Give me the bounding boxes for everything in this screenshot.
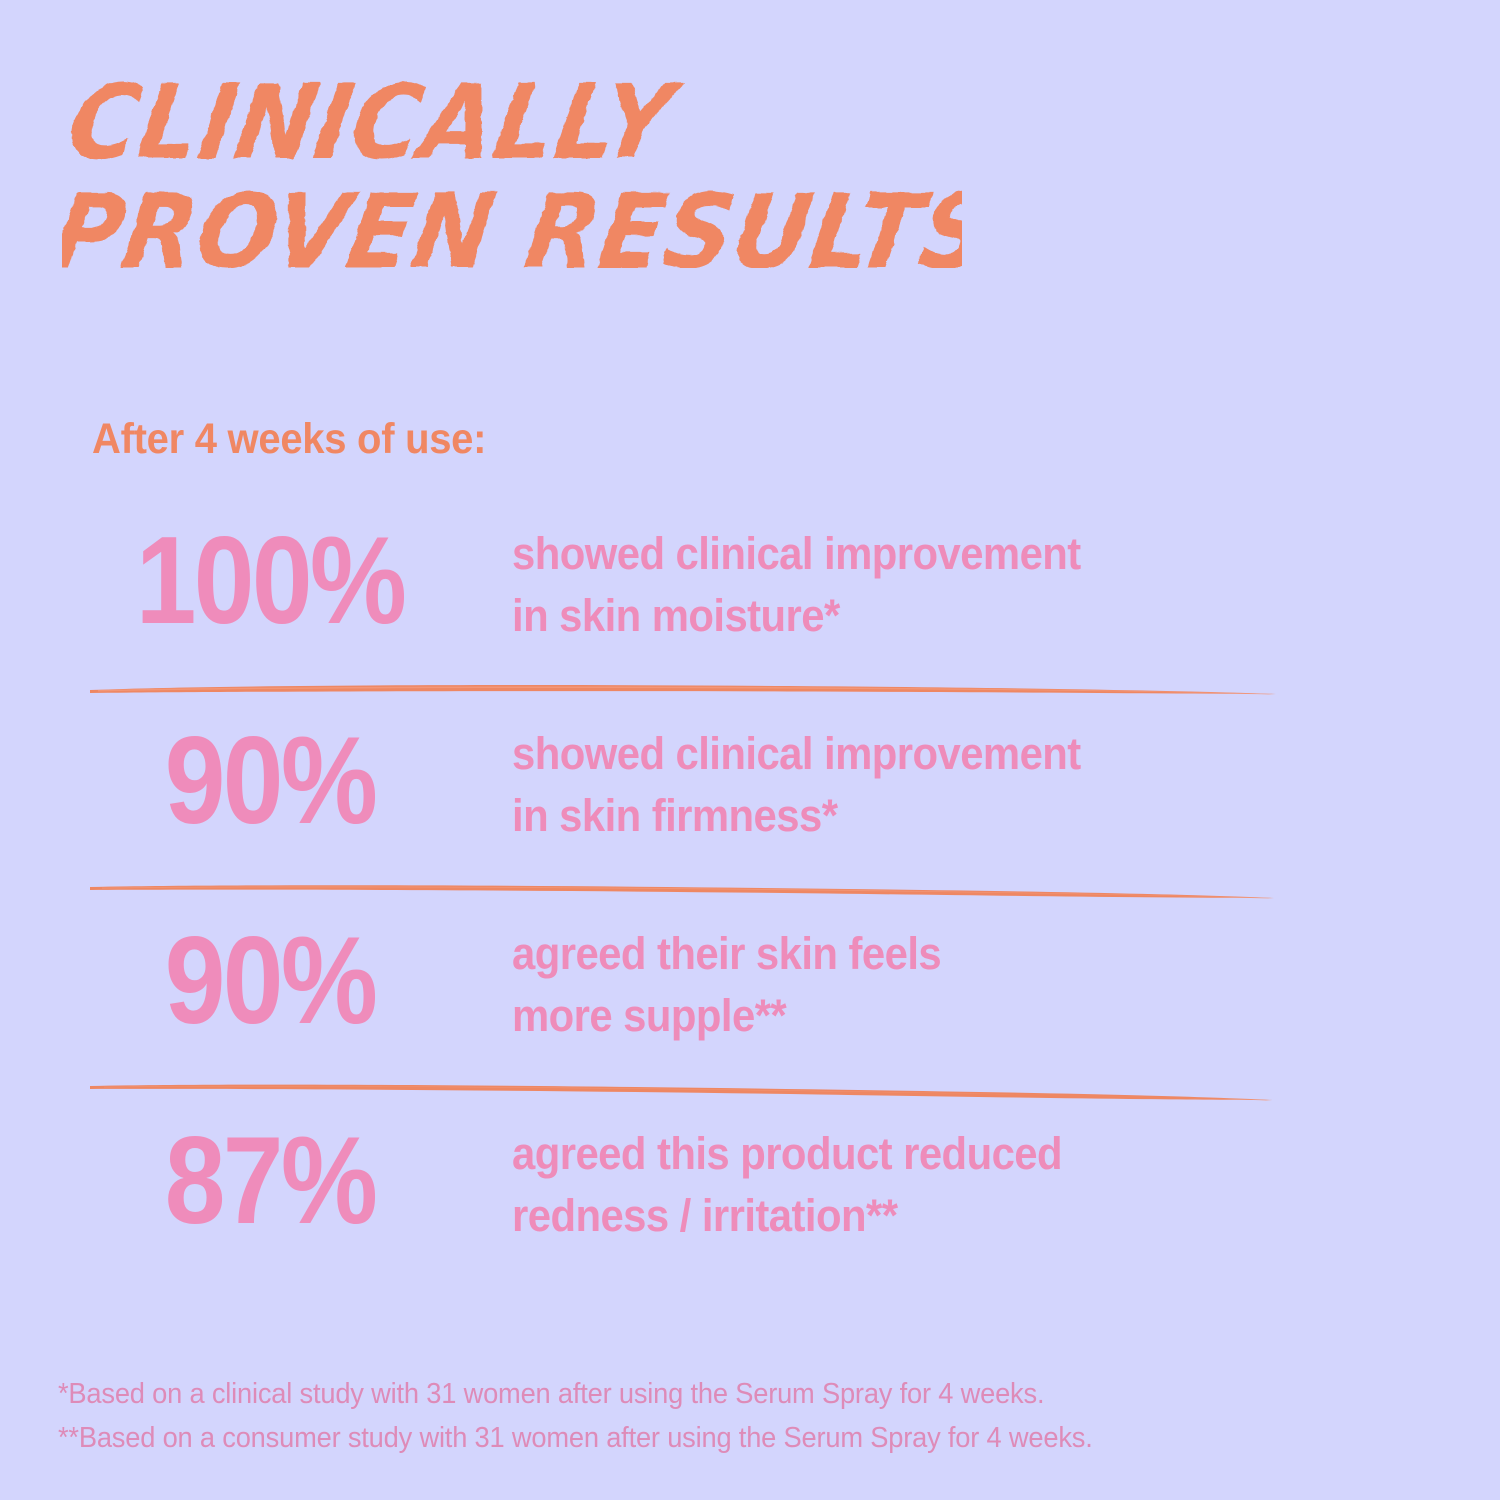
footnote-single-asterisk: *Based on a clinical study with 31 women… [58, 1372, 1280, 1416]
stat-percent: 87% [120, 1119, 419, 1243]
stat-percent: 100% [120, 519, 419, 643]
stat-percent: 90% [120, 919, 419, 1043]
clinical-results-card: CLINICALLY PROVEN RESULTS After 4 weeks … [0, 0, 1500, 1500]
stats-list: 100% showed clinical improvement in skin… [0, 505, 1500, 1295]
stat-row: 90% agreed their skin feels more supple*… [0, 905, 1500, 1105]
stat-description: agreed this product reduced redness / ir… [512, 1123, 1349, 1247]
stat-percent: 90% [120, 719, 419, 843]
stat-row: 87% agreed this product reduced redness … [0, 1105, 1500, 1295]
stat-description: showed clinical improvement in skin firm… [512, 723, 1349, 847]
stat-description: showed clinical improvement in skin mois… [512, 523, 1349, 647]
stat-row: 90% showed clinical improvement in skin … [0, 705, 1500, 905]
stat-description: agreed their skin feels more supple** [512, 923, 1349, 1047]
page-title: CLINICALLY PROVEN RESULTS [62, 48, 962, 268]
footnotes: *Based on a clinical study with 31 women… [58, 1372, 1358, 1460]
headline-line-1: CLINICALLY [62, 63, 689, 182]
stat-row: 100% showed clinical improvement in skin… [0, 505, 1500, 705]
subtitle: After 4 weeks of use: [92, 418, 486, 461]
headline-line-2: PROVEN RESULTS [62, 173, 962, 268]
footnote-double-asterisk: **Based on a consumer study with 31 wome… [58, 1416, 1280, 1460]
